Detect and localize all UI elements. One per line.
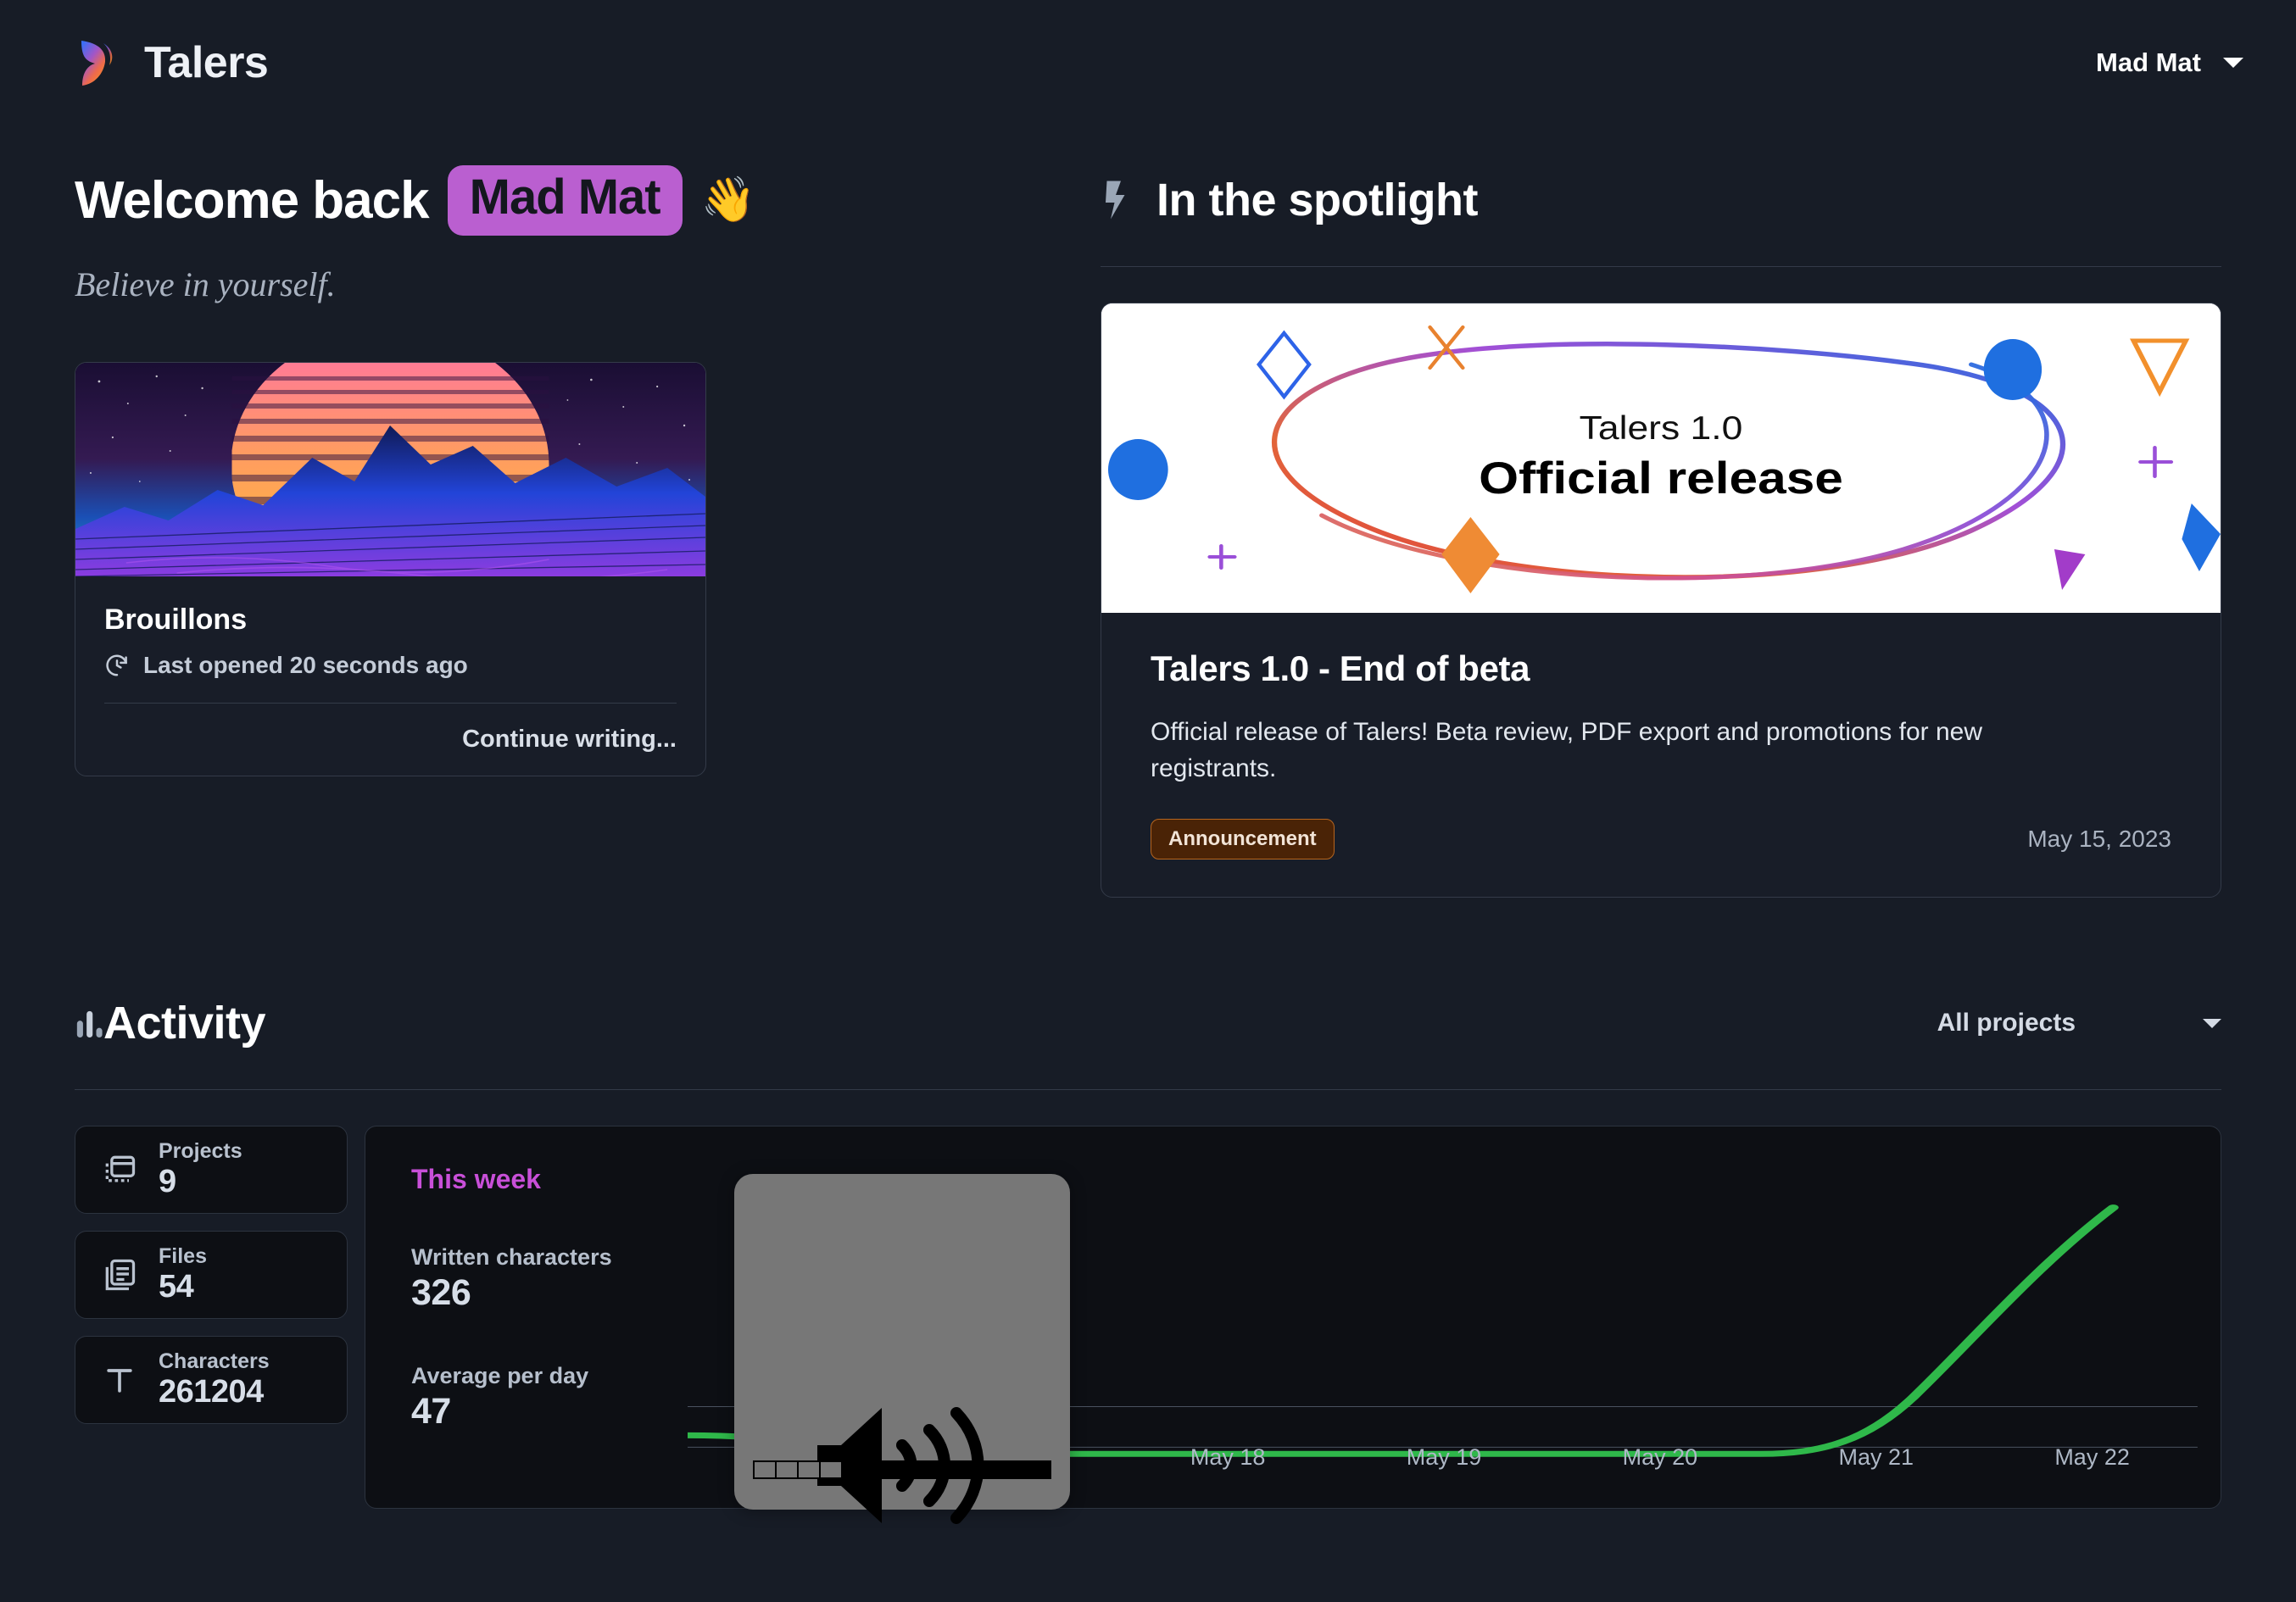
stat-card-files[interactable]: Files 54 [75,1231,348,1319]
chevron-down-icon [2223,58,2243,68]
recent-project-card[interactable]: Brouillons Last opened 20 seconds ago Co… [75,362,706,776]
spotlight-column: In the spotlight [1101,125,2221,898]
user-menu-button[interactable]: Mad Mat [2096,47,2243,78]
period-label: This week [411,1164,691,1195]
spotlight-footer: Announcement May 15, 2023 [1151,819,2171,859]
chart-summary: This week Written characters 326 Average… [411,1164,691,1432]
metric-label: Average per day [411,1363,691,1389]
metric-written-characters: Written characters 326 [411,1244,691,1314]
spotlight-article-card[interactable]: Talers 1.0 Official release Talers 1.0 -… [1101,303,2221,898]
divider [1101,266,2221,267]
app-header: Talers Mad Mat [0,0,2296,125]
stat-label: Files [159,1244,207,1269]
project-filter-value: All projects [1937,1009,2076,1037]
app-name: Talers [144,37,268,88]
volume-segment [777,1462,797,1477]
volume-segment [799,1462,819,1477]
metric-average-per-day: Average per day 47 [411,1363,691,1432]
lightning-bolt-icon [1101,180,1131,220]
stat-text: Files 54 [159,1244,207,1305]
metric-value: 47 [411,1391,691,1432]
welcome-greeting: Welcome back [75,170,429,231]
stat-card-list: Projects 9 Files 54 [75,1126,348,1509]
user-name: Mad Mat [2096,47,2201,78]
stat-text: Projects 9 [159,1139,242,1200]
volume-segment [755,1462,775,1477]
spotlight-title: Talers 1.0 - End of beta [1151,648,2171,689]
stat-value: 261204 [159,1374,270,1411]
stat-text: Characters 261204 [159,1349,270,1410]
volume-level-bar[interactable] [753,1460,1051,1479]
project-last-opened-text: Last opened 20 seconds ago [143,652,468,679]
spotlight-description: Official release of Talers! Beta review,… [1151,715,2024,787]
dashboard-main: Welcome back Mad Mat 👋 Believe in yourse… [0,125,2296,898]
stat-label: Projects [159,1139,242,1164]
project-title: Brouillons [104,604,677,637]
butterfly-logo-icon [75,36,122,89]
stat-value: 9 [159,1164,242,1201]
banner-headline: Official release [1479,453,1843,503]
activity-body: Projects 9 Files 54 [75,1126,2221,1509]
metric-label: Written characters [411,1244,691,1271]
synthwave-sunset-thumbnail [75,363,705,576]
stat-card-characters[interactable]: Characters 261204 [75,1336,348,1424]
metric-value: 326 [411,1272,691,1314]
files-stack-icon [101,1256,138,1293]
spotlight-date: May 15, 2023 [2027,826,2171,853]
activity-chart-panel: This week Written characters 326 Average… [365,1126,2221,1509]
banner-eyebrow: Talers 1.0 [1580,409,1743,447]
welcome-column: Welcome back Mad Mat 👋 Believe in yourse… [75,125,1016,898]
waving-hand-icon: 👋 [701,178,756,222]
spotlight-header: In the spotlight [1101,159,2221,241]
continue-row: Continue writing... [104,704,677,754]
bar-chart-icon [75,1006,103,1040]
welcome-user-badge: Mad Mat [448,165,683,236]
project-last-opened: Last opened 20 seconds ago [104,652,677,679]
history-clock-icon [104,653,130,678]
status-badge: Announcement [1151,819,1335,859]
continue-writing-link[interactable]: Continue writing... [462,726,677,754]
spotlight-banner-image: Talers 1.0 Official release [1101,303,2221,613]
text-character-icon [101,1361,138,1399]
brand[interactable]: Talers [75,36,268,89]
projects-stack-icon [101,1151,138,1188]
project-filter-dropdown[interactable]: All projects [1937,1009,2221,1037]
stat-label: Characters [159,1349,270,1374]
welcome-heading: Welcome back Mad Mat 👋 [75,159,1016,241]
chevron-down-icon [2203,1019,2221,1028]
volume-osd-overlay [734,1174,1070,1510]
activity-section: Activity All projects Projects 9 [0,982,2296,1509]
divider [75,1089,2221,1090]
activity-header: Activity All projects [75,982,2221,1064]
recent-project-body: Brouillons Last opened 20 seconds ago Co… [75,576,705,776]
motivational-quote: Believe in yourself. [75,264,1016,304]
speaker-volume-high-icon [811,1286,994,1421]
spotlight-body: Talers 1.0 - End of beta Official releas… [1101,613,2221,897]
stat-card-projects[interactable]: Projects 9 [75,1126,348,1214]
stat-value: 54 [159,1269,207,1306]
volume-segment [821,1462,841,1477]
spotlight-heading: In the spotlight [1156,174,1478,226]
activity-heading: Activity [103,997,265,1049]
